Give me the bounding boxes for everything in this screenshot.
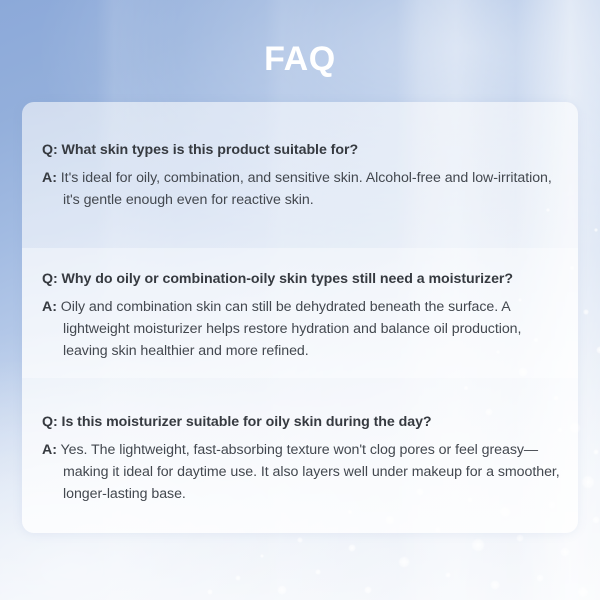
faq-question-3: Q: Is this moisturizer suitable for oily… — [42, 413, 560, 432]
faq-answer-2: A: Oily and combination skin can still b… — [42, 297, 560, 362]
faq-question-2: Q: Why do oily or combination-oily skin … — [42, 270, 560, 289]
faq-answer-1: A: It's ideal for oily, combination, and… — [42, 168, 560, 211]
faq-answer-label-1: A: — [42, 170, 57, 186]
faq-answer-label-2: A: — [42, 299, 57, 315]
faq-answer-text-1: It's ideal for oily, combination, and se… — [61, 170, 552, 208]
faq-screen: FAQ Q: What skin types is this product s… — [0, 0, 600, 600]
faq-answer-label-3: A: — [42, 442, 57, 458]
faq-list: Q: What skin types is this product suita… — [22, 102, 578, 533]
faq-item-2[interactable]: Q: Why do oily or combination-oily skin … — [42, 270, 560, 362]
faq-answer-text-3: Yes. The lightweight, fast-absorbing tex… — [61, 442, 560, 501]
faq-question-1: Q: What skin types is this product suita… — [42, 141, 560, 160]
faq-item-3[interactable]: Q: Is this moisturizer suitable for oily… — [42, 413, 560, 505]
page-title: FAQ — [0, 41, 600, 78]
faq-item-1[interactable]: Q: What skin types is this product suita… — [42, 141, 560, 212]
faq-answer-text-2: Oily and combination skin can still be d… — [61, 299, 522, 358]
faq-answer-3: A: Yes. The lightweight, fast-absorbing … — [42, 440, 560, 505]
faq-card: Q: What skin types is this product suita… — [22, 102, 578, 533]
